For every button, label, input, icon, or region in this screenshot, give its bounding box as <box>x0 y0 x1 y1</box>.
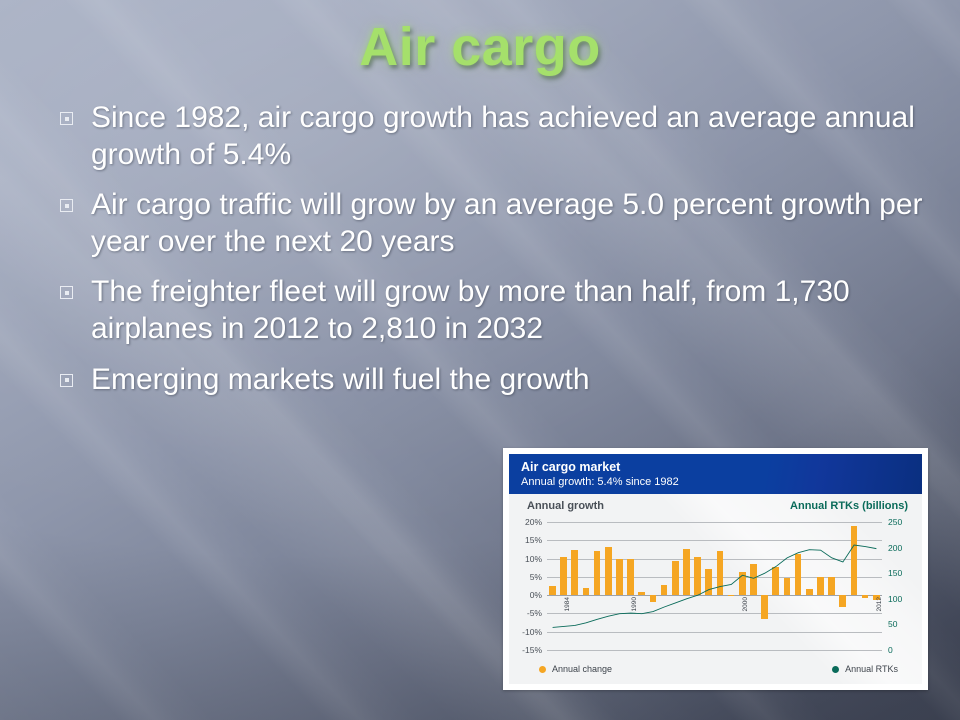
list-item-text: The freighter fleet will grow by more th… <box>91 274 940 347</box>
chart-inner: Air cargo market Annual growth: 5.4% sin… <box>509 454 922 684</box>
chart-axis-titles: Annual growth Annual RTKs (billions) <box>527 500 908 520</box>
legend-dot-icon-teal <box>832 666 839 673</box>
gridline: -15% <box>547 650 882 651</box>
x-axis-tick-label: 2000 <box>742 597 749 611</box>
y-axis-tick-left: -15% <box>522 645 542 655</box>
y-axis-tick-left: -10% <box>522 627 542 637</box>
legend-label-annual-change: Annual change <box>552 664 612 674</box>
y-axis-tick-left: 10% <box>525 554 542 564</box>
air-cargo-market-chart-card: Air cargo market Annual growth: 5.4% sin… <box>503 448 928 690</box>
y-axis-tick-left: 5% <box>530 572 542 582</box>
list-item-text: Emerging markets will fuel the growth <box>91 362 940 399</box>
page-title: Air cargo <box>0 16 960 78</box>
legend-item-annual-rtks: Annual RTKs <box>832 664 898 674</box>
list-item-text: Since 1982, air cargo growth has achieve… <box>91 100 940 173</box>
slide: Air cargo Since 1982, air cargo growth h… <box>0 0 960 720</box>
chart-banner-title: Air cargo market <box>521 459 922 475</box>
y-axis-tick-left: -5% <box>527 608 542 618</box>
chart-x-axis-labels: 1984199020002012 <box>547 522 882 650</box>
legend-item-annual-change: Annual change <box>539 664 612 674</box>
left-axis-title: Annual growth <box>527 500 604 512</box>
x-axis-tick-label: 2012 <box>876 597 883 611</box>
list-item-text: Air cargo traffic will grow by an averag… <box>91 187 940 260</box>
y-axis-tick-right: 0 <box>888 645 893 655</box>
chart-legend: Annual change Annual RTKs <box>539 664 898 680</box>
y-axis-tick-right: 200 <box>888 543 902 553</box>
y-axis-tick-left: 20% <box>525 517 542 527</box>
y-axis-tick-right: 100 <box>888 594 902 604</box>
list-item: Since 1982, air cargo growth has achieve… <box>60 100 940 173</box>
chart-banner: Air cargo market Annual growth: 5.4% sin… <box>509 454 922 494</box>
y-axis-tick-right: 50 <box>888 619 897 629</box>
x-axis-tick-label: 1990 <box>631 597 638 611</box>
chart-plot-area: 20%15%10%5%0%-5%-10%-15%250200150100500 … <box>547 522 882 650</box>
right-axis-title: Annual RTKs (billions) <box>790 500 908 512</box>
y-axis-tick-left: 15% <box>525 535 542 545</box>
list-item: Air cargo traffic will grow by an averag… <box>60 187 940 260</box>
y-axis-tick-right: 250 <box>888 517 902 527</box>
square-dot-bullet-icon <box>60 286 73 299</box>
square-dot-bullet-icon <box>60 374 73 387</box>
x-axis-tick-label: 1984 <box>564 597 571 611</box>
square-dot-bullet-icon <box>60 199 73 212</box>
chart-banner-subtitle: Annual growth: 5.4% since 1982 <box>521 475 922 489</box>
square-dot-bullet-icon <box>60 112 73 125</box>
y-axis-tick-right: 150 <box>888 568 902 578</box>
right-axis-title-main: Annual RTKs <box>790 500 859 512</box>
list-item: Emerging markets will fuel the growth <box>60 362 940 399</box>
bullet-list: Since 1982, air cargo growth has achieve… <box>60 100 940 412</box>
list-item: The freighter fleet will grow by more th… <box>60 274 940 347</box>
legend-dot-icon-orange <box>539 666 546 673</box>
right-axis-title-unit: (billions) <box>859 500 908 512</box>
legend-label-annual-rtks: Annual RTKs <box>845 664 898 674</box>
y-axis-tick-left: 0% <box>530 590 542 600</box>
